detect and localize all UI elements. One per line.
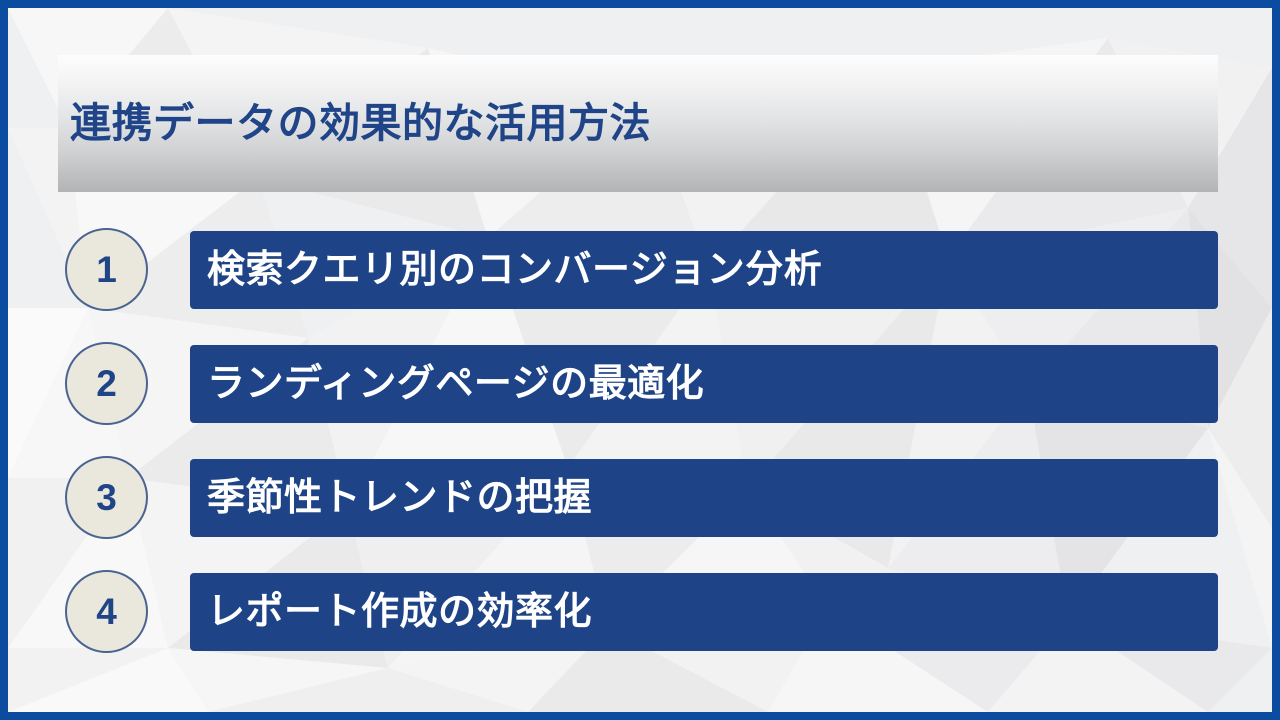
- numbered-list: 1 検索クエリ別のコンバージョン分析 2 ランディングページの最適化 3 季節性…: [58, 228, 1218, 653]
- item-number-badge: 3: [65, 456, 148, 539]
- item-number-badge: 2: [65, 342, 148, 425]
- item-label: 季節性トレンドの把握: [207, 479, 592, 517]
- slide-canvas: 連携データの効果的な活用方法 1 検索クエリ別のコンバージョン分析 2 ランディ…: [0, 0, 1280, 720]
- title-plate: 連携データの効果的な活用方法: [58, 55, 1218, 192]
- item-label: 検索クエリ別のコンバージョン分析: [207, 251, 822, 289]
- item-bar[interactable]: ランディングページの最適化: [190, 345, 1218, 423]
- item-bar[interactable]: 季節性トレンドの把握: [190, 459, 1218, 537]
- item-bar[interactable]: 検索クエリ別のコンバージョン分析: [190, 231, 1218, 309]
- list-item: 1 検索クエリ別のコンバージョン分析: [58, 228, 1218, 311]
- item-label: ランディングページの最適化: [207, 365, 704, 403]
- item-number-badge: 1: [65, 228, 148, 311]
- page-title: 連携データの効果的な活用方法: [70, 103, 651, 144]
- list-item: 2 ランディングページの最適化: [58, 342, 1218, 425]
- item-number-badge: 4: [65, 570, 148, 653]
- item-bar[interactable]: レポート作成の効率化: [190, 573, 1218, 651]
- list-item: 4 レポート作成の効率化: [58, 570, 1218, 653]
- item-label: レポート作成の効率化: [207, 593, 592, 631]
- list-item: 3 季節性トレンドの把握: [58, 456, 1218, 539]
